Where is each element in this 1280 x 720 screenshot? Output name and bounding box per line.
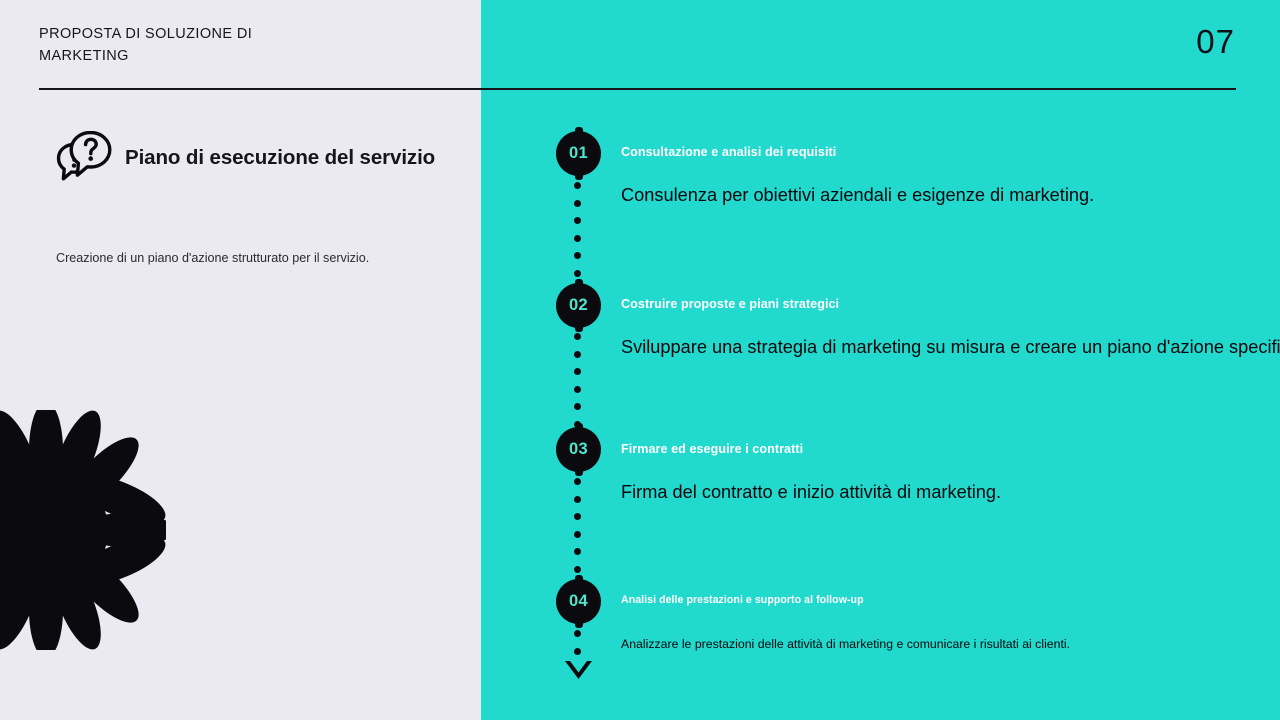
connector-dot	[574, 235, 581, 242]
connector-dot	[574, 182, 581, 189]
badge-tail-bottom	[575, 325, 583, 332]
step-badge-04[interactable]: 04	[556, 579, 601, 624]
step-title-04: Analisi delle prestazioni e supporto al …	[621, 594, 864, 606]
badge-circle: 01	[556, 131, 601, 176]
step-title-02: Costruire proposte e piani strategici	[621, 297, 839, 311]
step-title-01: Consultazione e analisi dei requisiti	[621, 145, 836, 159]
connector-dot	[574, 386, 581, 393]
step-badge-03[interactable]: 03	[556, 427, 601, 472]
connector-dot	[574, 351, 581, 358]
step-title-03: Firmare ed eseguire i contratti	[621, 442, 803, 456]
slide-canvas: PROPOSTA DI SOLUZIONE DI MARKETING 07 Pi…	[0, 0, 1280, 720]
connector-dot	[574, 252, 581, 259]
connector-dot	[574, 368, 581, 375]
timeline: 01 Consultazione e analisi dei requisiti…	[0, 0, 1280, 720]
step-badge-02[interactable]: 02	[556, 283, 601, 328]
badge-circle: 04	[556, 579, 601, 624]
connector-dot	[574, 200, 581, 207]
step-badge-01[interactable]: 01	[556, 131, 601, 176]
connector-dot	[574, 548, 581, 555]
timeline-connector-3	[574, 478, 582, 570]
connector-dot	[574, 496, 581, 503]
badge-circle: 02	[556, 283, 601, 328]
step-description-01: Consulenza per obiettivi aziendali e esi…	[621, 185, 1094, 206]
badge-tail-bottom	[575, 469, 583, 476]
connector-dot	[574, 531, 581, 538]
connector-dot	[574, 630, 581, 637]
connector-dot	[574, 217, 581, 224]
connector-dot	[574, 403, 581, 410]
step-number: 01	[569, 144, 588, 163]
step-number: 02	[569, 296, 588, 315]
chevron-down-arrow-icon	[563, 659, 594, 683]
connector-dot	[574, 648, 581, 655]
step-description-02: Sviluppare una strategia di marketing su…	[621, 337, 1280, 358]
connector-dot	[574, 333, 581, 340]
timeline-connector-2	[574, 333, 582, 425]
badge-tail-bottom	[575, 173, 583, 180]
connector-dot	[574, 478, 581, 485]
timeline-connector-1	[574, 182, 582, 274]
step-number: 04	[569, 592, 588, 611]
connector-dot	[574, 513, 581, 520]
step-number: 03	[569, 440, 588, 459]
badge-tail-bottom	[575, 621, 583, 628]
connector-dot	[574, 270, 581, 277]
step-description-04: Analizzare le prestazioni delle attività…	[621, 637, 1070, 651]
connector-dot	[574, 566, 581, 573]
badge-circle: 03	[556, 427, 601, 472]
step-description-03: Firma del contratto e inizio attività di…	[621, 482, 1001, 503]
